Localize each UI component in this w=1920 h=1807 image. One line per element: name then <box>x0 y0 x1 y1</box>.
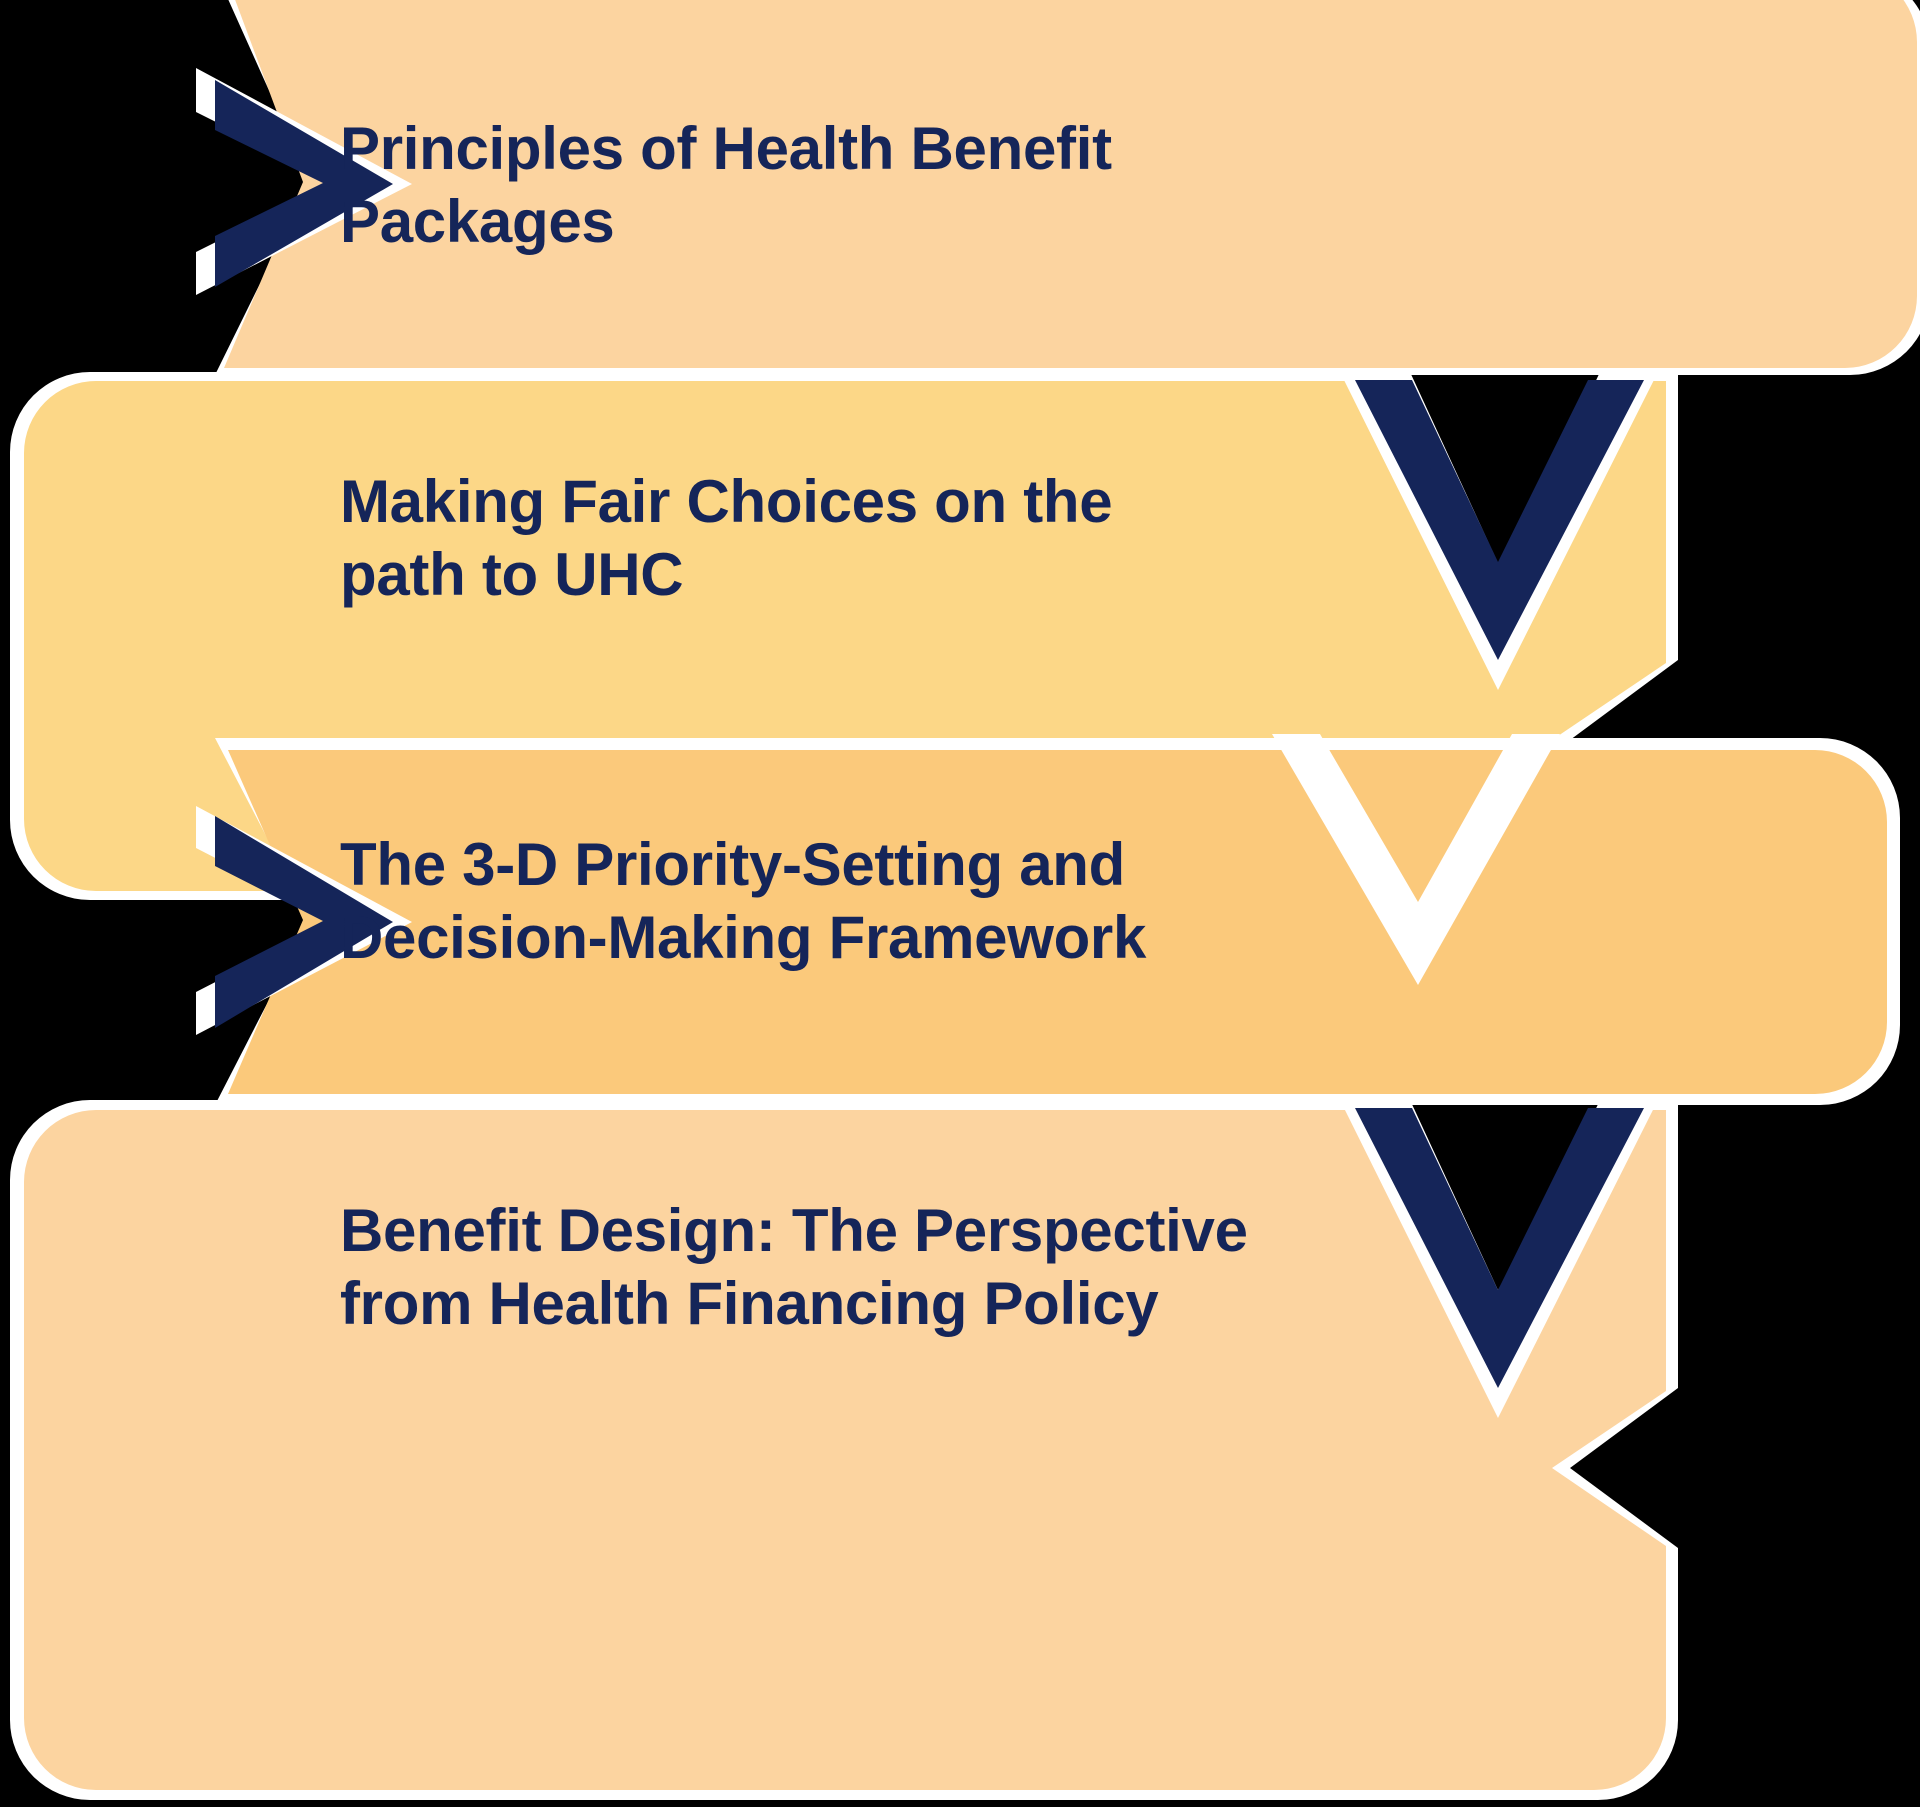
chevron-flow-shapes <box>0 0 1920 1807</box>
step-1-body <box>224 0 1917 368</box>
step-3-shape[interactable] <box>196 734 1900 1105</box>
step-1-shape[interactable] <box>196 0 1920 375</box>
step-4-shape[interactable] <box>10 1100 1678 1800</box>
step-3-body <box>228 750 1887 1094</box>
diagram-canvas: Principles of Health Benefit Packages Ma… <box>0 0 1920 1807</box>
